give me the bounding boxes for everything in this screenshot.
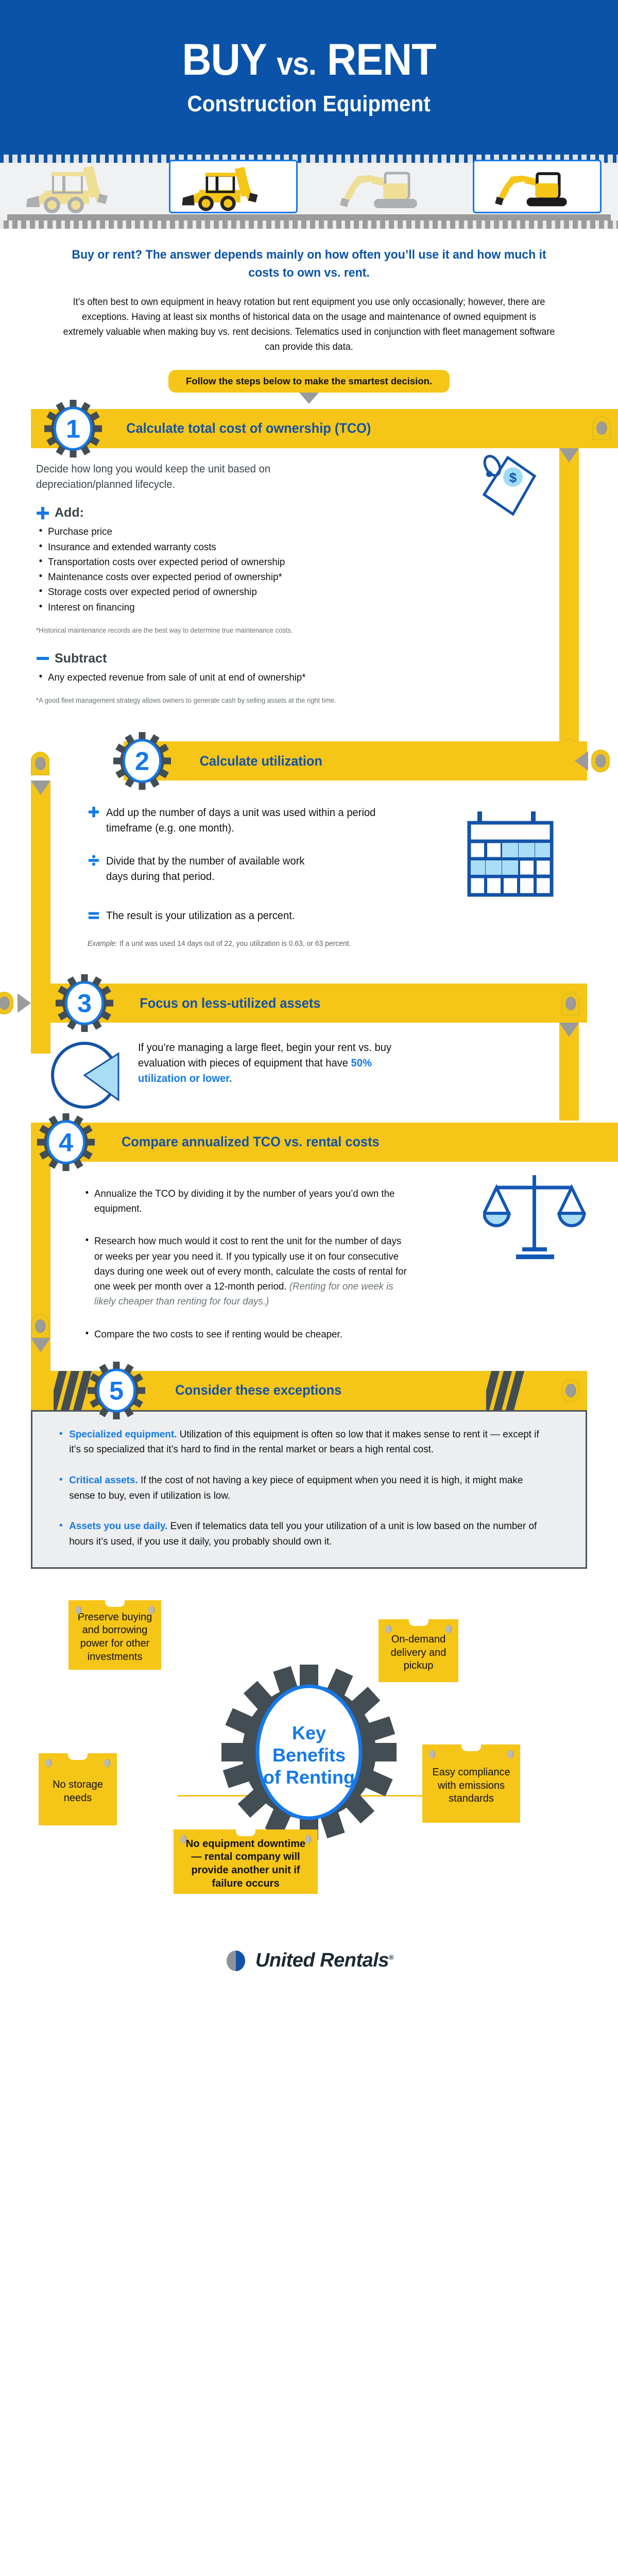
perforation-bottom xyxy=(0,221,618,229)
exception-label: Critical assets. xyxy=(69,1475,138,1486)
filmstrip-item-backhoe-loader-faded[interactable] xyxy=(17,160,146,213)
filmstrip-item-mini-excavator[interactable] xyxy=(473,160,602,213)
registered-trademark-icon: ® xyxy=(389,1953,393,1961)
op-text: The result is your utilization as a perc… xyxy=(106,908,295,924)
gear-icon: 4 xyxy=(37,1113,95,1171)
benefit-tag: No storage needs xyxy=(39,1753,117,1825)
exception-label: Specialized equipment. xyxy=(69,1429,177,1440)
step-1-subtract-list: Any expected revenue from sale of unit a… xyxy=(36,670,582,685)
step-4-body: Annualize the TCO by dividing it by the … xyxy=(0,1162,618,1342)
equipment-filmstrip xyxy=(0,163,618,221)
united-rentals-mark-icon xyxy=(225,1950,251,1972)
screw-icon xyxy=(507,1750,513,1758)
step-3-body: If you’re managing a large fleet, begin … xyxy=(0,1023,618,1086)
list-item: Storage costs over expected period of ow… xyxy=(36,585,560,600)
step-1-add-list: Purchase price Insurance and extended wa… xyxy=(36,524,582,615)
bolt-icon xyxy=(591,750,610,772)
svg-text:4: 4 xyxy=(59,1128,73,1157)
step-2-body: Add up the number of days a unit was use… xyxy=(0,781,618,950)
arrow-right-icon xyxy=(18,993,31,1013)
bolt-icon xyxy=(561,992,580,1015)
screw-icon xyxy=(305,1835,311,1843)
bolt-icon xyxy=(561,1379,580,1402)
list-item: Compare the two costs to see if renting … xyxy=(82,1327,409,1342)
minus-icon xyxy=(36,652,49,665)
bullet-text: Annualize the TCO by dividing it by the … xyxy=(94,1188,394,1214)
intro-body: It’s often best to own equipment in heav… xyxy=(62,295,556,354)
gear-icon: 2 xyxy=(113,732,171,790)
add-label: Add: xyxy=(55,505,84,520)
screw-icon xyxy=(104,1759,110,1767)
step-3-title: Focus on less-utilized assets xyxy=(140,995,320,1011)
logo-text: United Rentals xyxy=(255,1950,389,1971)
plus-icon xyxy=(36,506,49,520)
united-rentals-logo: United Rentals® xyxy=(225,1950,393,1972)
step-1-footnote-2: *A good fleet management strategy allows… xyxy=(36,696,352,706)
bolt-icon xyxy=(592,416,611,440)
benefit-tag: On-demand delivery and pickup xyxy=(379,1619,458,1682)
step-1-body: $ Decide how long you would keep the uni… xyxy=(0,448,618,706)
benefit-tag-label: No equipment downtime — rental company w… xyxy=(181,1838,311,1890)
benefit-tag: Easy compliance with emissions standards xyxy=(422,1744,520,1823)
step-2-title: Calculate utilization xyxy=(200,753,322,769)
svg-text:3: 3 xyxy=(77,989,92,1018)
step-1-header: 1 Calculate total cost of ownership (TCO… xyxy=(31,409,618,448)
steps-section: 1 Calculate total cost of ownership (TCO… xyxy=(0,409,618,1569)
scales-icon xyxy=(483,1172,586,1267)
screw-icon xyxy=(429,1750,435,1758)
step-3-text: If you’re managing a large fleet, begin … xyxy=(138,1040,415,1086)
list-item: Assets you use daily. Even if telematics… xyxy=(56,1519,547,1549)
benefit-tag-label: Preserve buying and borrowing power for … xyxy=(76,1611,154,1664)
page-title: BUY vs. RENT xyxy=(182,38,436,82)
page-subtitle: Construction Equipment xyxy=(187,91,431,117)
title-rent: RENT xyxy=(327,35,436,84)
filmstrip-item-mini-excavator-faded[interactable] xyxy=(321,160,450,213)
screw-icon xyxy=(75,1606,81,1614)
bolt-icon xyxy=(31,752,49,775)
svg-text:2: 2 xyxy=(135,747,149,776)
intro-lead: Buy or rent? The answer depends mainly o… xyxy=(64,246,553,282)
benefit-tag-label: On-demand delivery and pickup xyxy=(386,1633,451,1673)
filmstrip-item-backhoe-loader[interactable] xyxy=(169,160,298,213)
gear-icon: 3 xyxy=(56,974,113,1032)
step-4-title: Compare annualized TCO vs. rental costs xyxy=(122,1134,380,1150)
hazard-stripes-right-icon xyxy=(486,1371,543,1410)
step-2-op-equals: The result is your utilization as a perc… xyxy=(88,908,582,924)
benefit-tag-label: Easy compliance with emissions standards xyxy=(430,1766,513,1806)
benefit-tag: No equipment downtime — rental company w… xyxy=(174,1829,318,1894)
screw-icon xyxy=(45,1759,51,1767)
step-1-title: Calculate total cost of ownership (TCO) xyxy=(126,420,371,436)
svg-text:5: 5 xyxy=(109,1376,124,1405)
step-5-title: Consider these exceptions xyxy=(175,1382,341,1398)
key-benefits-section: Key Benefits of Renting Preserve buying … xyxy=(0,1592,618,1881)
op-text: Divide that by the number of available w… xyxy=(106,854,314,885)
svg-text:of Renting: of Renting xyxy=(263,1767,355,1788)
list-item: Insurance and extended warranty costs xyxy=(36,540,560,555)
list-item: Research how much would it cost to rent … xyxy=(82,1234,409,1309)
benefit-tag: Preserve buying and borrowing power for … xyxy=(68,1600,161,1670)
step-2-example: Example: If a unit was used 14 days out … xyxy=(88,939,562,950)
list-item: Critical assets. If the cost of not havi… xyxy=(56,1473,547,1503)
bullet-text: Compare the two costs to see if renting … xyxy=(94,1329,342,1340)
step-1-footnote-1: *Historical maintenance records are the … xyxy=(36,625,342,636)
subtract-label: Subtract xyxy=(55,651,107,666)
title-buy: BUY xyxy=(182,35,266,84)
filmstrip-rail xyxy=(7,214,611,221)
follow-steps-callout: Follow the steps below to make the smart… xyxy=(168,370,450,393)
list-item: Transportation costs over expected perio… xyxy=(36,555,560,570)
screw-icon xyxy=(148,1606,154,1614)
benefit-tag-label: No storage needs xyxy=(46,1778,110,1805)
equals-icon xyxy=(88,908,100,922)
screw-icon xyxy=(385,1625,391,1633)
svg-text:$: $ xyxy=(509,470,517,485)
svg-text:Key: Key xyxy=(292,1722,326,1743)
exceptions-list: Specialized equipment. Utilization of th… xyxy=(56,1427,562,1550)
step-3-header: 3 Focus on less-utilized assets xyxy=(31,984,587,1023)
follow-steps-callout-wrap: Follow the steps below to make the smart… xyxy=(0,370,618,404)
intro-section: Buy or rent? The answer depends mainly o… xyxy=(0,229,618,354)
list-item: Specialized equipment. Utilization of th… xyxy=(56,1427,547,1458)
pie-chart-icon xyxy=(43,1034,126,1116)
plus-icon xyxy=(88,805,100,819)
screw-icon xyxy=(180,1835,186,1843)
step-2-header: 2 Calculate utilization xyxy=(124,741,587,781)
key-benefits-gear-icon: Key Benefits of Renting xyxy=(221,1665,397,1840)
exception-label: Assets you use daily. xyxy=(69,1520,167,1532)
svg-text:1: 1 xyxy=(66,414,80,444)
title-vs: vs. xyxy=(277,46,316,82)
price-tag-icon: $ xyxy=(463,453,541,523)
op-text: Add up the number of days a unit was use… xyxy=(106,805,422,836)
step-4-bullets: Annualize the TCO by dividing it by the … xyxy=(82,1187,422,1342)
gear-icon: 1 xyxy=(44,400,102,457)
svg-text:Benefits: Benefits xyxy=(272,1744,346,1766)
divide-icon xyxy=(88,854,100,867)
step-5-header: 5 Consider these exceptions xyxy=(31,1371,587,1410)
exceptions-panel: Specialized equipment. Utilization of th… xyxy=(31,1410,587,1569)
list-item: Purchase price xyxy=(36,524,560,539)
bolt-icon xyxy=(0,992,13,1014)
page-footer: United Rentals® xyxy=(0,1922,618,1999)
list-item: Maintenance costs over expected period o… xyxy=(36,570,560,585)
list-item: Annualize the TCO by dividing it by the … xyxy=(82,1187,409,1217)
subtract-heading: Subtract xyxy=(36,651,582,666)
page-header: BUY vs. RENT Construction Equipment xyxy=(0,0,618,155)
logo-wordmark: United Rentals® xyxy=(255,1950,393,1972)
gear-icon: 5 xyxy=(88,1362,145,1419)
screw-icon xyxy=(445,1625,452,1633)
step-1-intro: Decide how long you would keep the unit … xyxy=(36,462,342,493)
arrow-left-icon xyxy=(575,751,588,771)
list-item: Any expected revenue from sale of unit a… xyxy=(36,670,560,685)
list-item: Interest on financing xyxy=(36,600,560,615)
example-text: If a unit was used 14 days out of 22, yo… xyxy=(117,940,351,948)
example-label: Example: xyxy=(88,940,117,948)
step-4-header: 4 Compare annualized TCO vs. rental cost… xyxy=(31,1123,618,1162)
callout-arrow-icon xyxy=(299,393,319,404)
calendar-icon xyxy=(466,807,569,903)
